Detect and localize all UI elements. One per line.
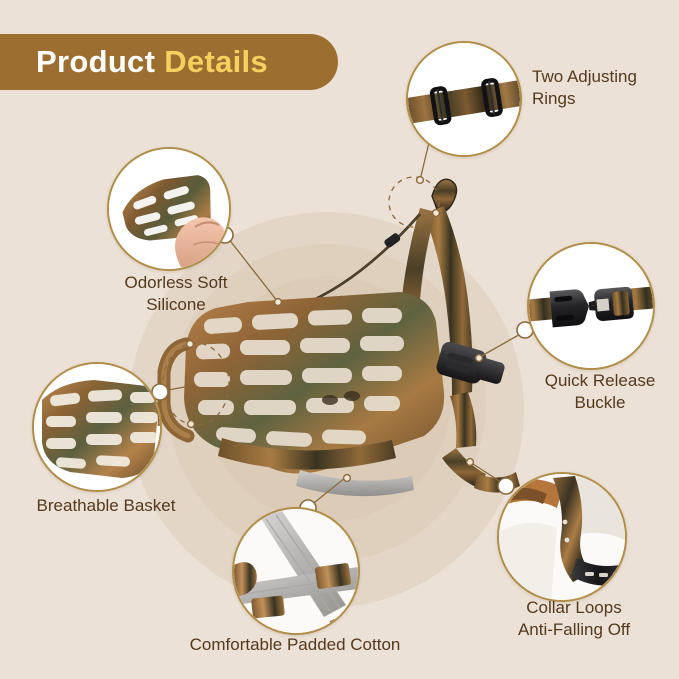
callout-label-odorless-soft-silicone: Odorless Soft Silicone [98,272,254,316]
callout-label-two-adjusting-rings: Two Adjusting Rings [532,66,677,110]
page-title-banner: ProductDetails [0,34,338,90]
callout-label-breathable-basket: Breathable Basket [16,495,196,517]
page-title-word-accent: Details [164,44,268,79]
callout-image-breathable-basket [32,362,162,492]
callout-image-collar-loops-anti-falling-off [497,472,627,602]
infographic-canvas: ProductDetails [0,0,679,679]
callout-image-two-adjusting-rings [406,41,522,157]
callout-image-odorless-soft-silicone [107,147,231,271]
callout-label-quick-release-buckle: Quick Release Buckle [525,370,675,414]
callout-label-comfortable-padded-cotton: Comfortable Padded Cotton [164,634,426,656]
page-title-word-primary: Product [36,44,155,79]
page-title: ProductDetails [36,44,268,80]
callout-label-collar-loops: Collar Loops Anti-Falling Off [490,597,658,641]
callout-image-comfortable-padded-cotton [232,507,360,635]
callout-image-quick-release-buckle [527,242,655,370]
